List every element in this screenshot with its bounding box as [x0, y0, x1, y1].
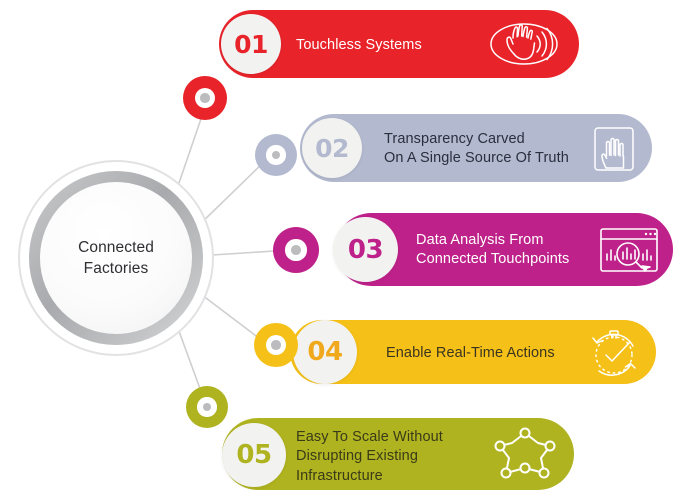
benefit-number-circle-3: 03 [333, 217, 398, 282]
benefit-number-circle-4: 04 [293, 320, 357, 384]
benefit-text-line: Data Analysis From [416, 231, 616, 250]
benefit-number-5: 05 [236, 440, 271, 470]
connector-dot-1 [183, 76, 227, 120]
benefit-number-circle-1: 01 [221, 14, 281, 74]
benefit-number-circle-2: 02 [302, 118, 362, 178]
network-star-nodes-icon [494, 424, 556, 484]
benefit-text-line: Easy To Scale Without [296, 428, 486, 447]
benefit-number-2: 02 [315, 134, 349, 163]
benefit-text-line: Disrupting Existing [296, 447, 486, 466]
touchless-hand-wave-icon [486, 18, 562, 70]
hub-inner-disc: Connected Factories [40, 182, 192, 334]
benefit-number-4: 04 [307, 337, 342, 367]
stopwatch-refresh-icon [585, 324, 643, 380]
benefit-text-line: Enable Real-Time Actions [386, 344, 596, 363]
infographic-canvas: Touchless Systems 01 [0, 0, 700, 500]
benefit-text-2: Transparency Carved On A Single Source O… [384, 130, 594, 169]
hand-on-tablet-icon [590, 124, 638, 174]
benefit-text-line: Connected Touchpoints [416, 250, 616, 269]
hub-label: Connected Factories [78, 237, 154, 280]
benefit-text-line: Infrastructure [296, 467, 486, 486]
benefit-text-5: Easy To Scale Without Disrupting Existin… [296, 428, 486, 486]
benefit-text-line: Touchless Systems [296, 36, 496, 55]
connector-dot-3 [273, 227, 319, 273]
benefit-number-3: 03 [348, 235, 383, 265]
benefit-text-1: Touchless Systems [296, 36, 496, 55]
connector-dot-2 [255, 134, 297, 176]
benefit-text-line: On A Single Source Of Truth [384, 149, 594, 168]
hub-label-line1: Connected [78, 237, 154, 258]
benefit-text-line: Transparency Carved [384, 130, 594, 149]
connector-dot-5 [186, 386, 228, 428]
benefit-number-1: 01 [234, 30, 268, 59]
connector-dot-4 [254, 323, 298, 367]
hub-label-line2: Factories [78, 258, 154, 279]
benefit-number-circle-5: 05 [222, 423, 286, 487]
benefit-text-4: Enable Real-Time Actions [386, 344, 596, 363]
benefit-text-3: Data Analysis From Connected Touchpoints [416, 231, 616, 270]
browser-chart-search-icon [598, 226, 660, 274]
connected-factories-hub[interactable]: Connected Factories [18, 160, 214, 356]
